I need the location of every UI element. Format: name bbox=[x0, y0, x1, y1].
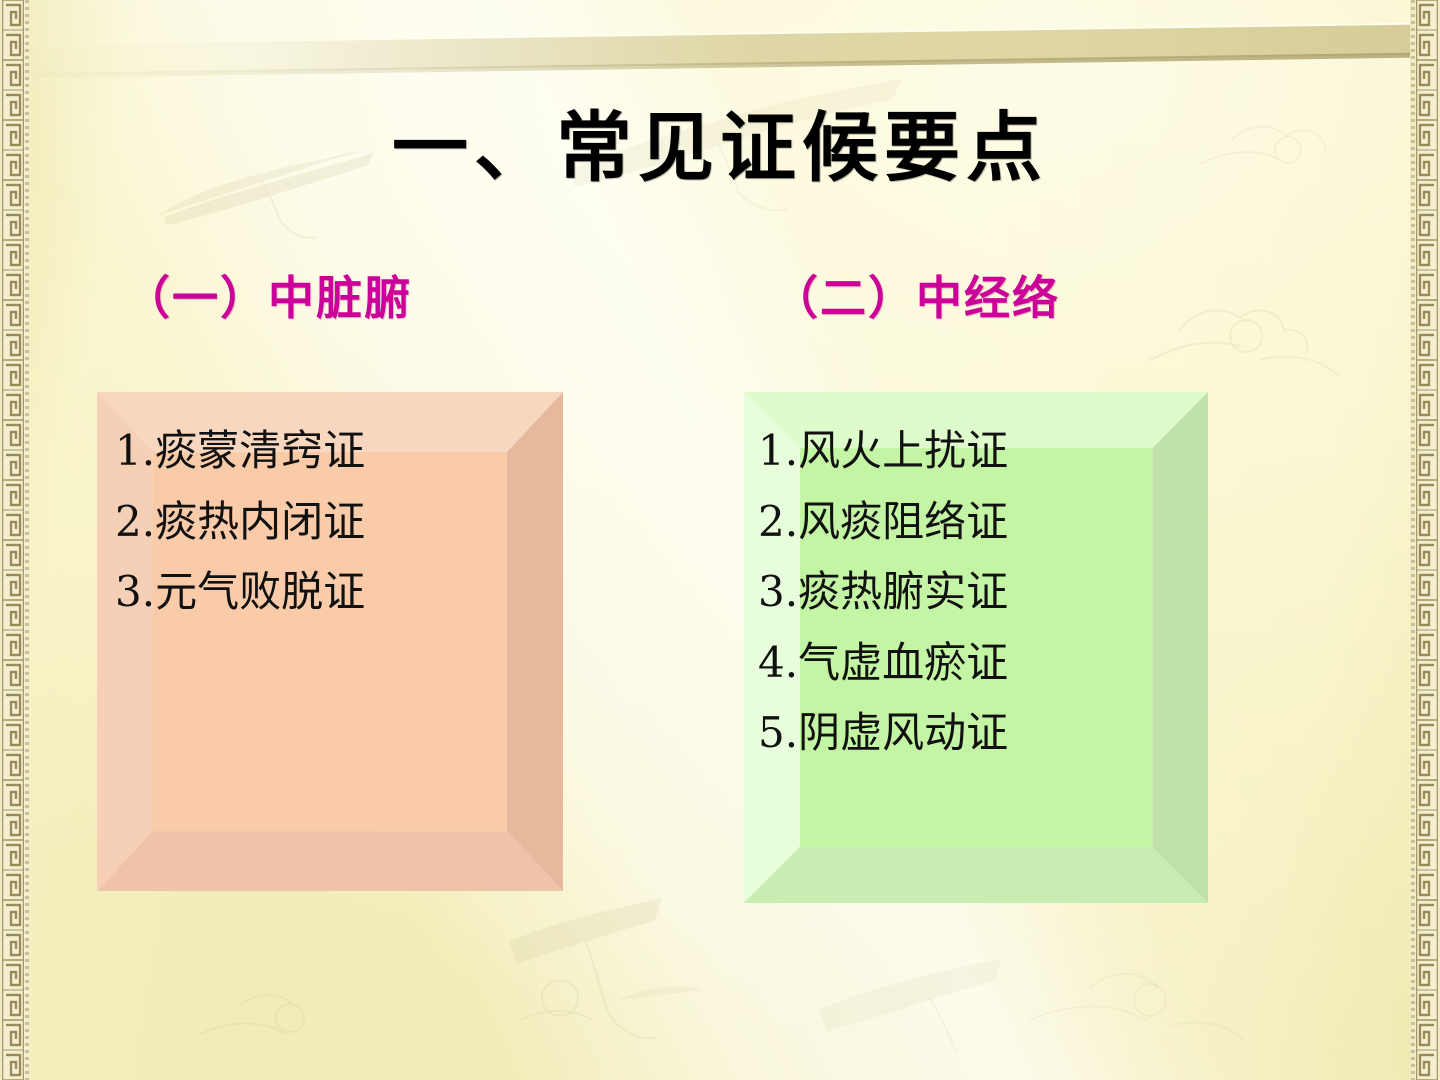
content-box-jingluo: 1.风火上扰证 2.风痰阻络证 3.痰热腑实证 4.气虚血瘀证 5.阴虚风动证 bbox=[744, 392, 1208, 903]
list-item: 3.痰热腑实证 bbox=[758, 557, 1208, 628]
syndrome-list-zangfu: 1.痰蒙清窍证 2.痰热内闭证 3.元气败脱证 bbox=[97, 392, 563, 628]
border-tick-strip bbox=[1411, 0, 1415, 1080]
content-box-zangfu: 1.痰蒙清窍证 2.痰热内闭证 3.元气败脱证 bbox=[97, 392, 563, 891]
border-tick-strip bbox=[25, 0, 29, 1080]
list-item: 4.气虚血瘀证 bbox=[758, 628, 1208, 699]
presentation-slide: 一、常见证候要点 （一）中脏腑 （二）中经络 1.痰蒙清窍证 2.痰热内闭证 3… bbox=[0, 0, 1440, 1080]
list-item: 2.风痰阻络证 bbox=[758, 487, 1208, 558]
list-item: 1.风火上扰证 bbox=[758, 416, 1208, 487]
left-decorative-border bbox=[0, 0, 30, 1080]
list-item: 3.元气败脱证 bbox=[115, 557, 563, 628]
slide-title: 一、常见证候要点 bbox=[0, 108, 1440, 188]
list-item: 1.痰蒙清窍证 bbox=[115, 416, 563, 487]
section-heading-jingluo: （二）中经络 bbox=[772, 262, 1060, 328]
list-item: 5.阴虚风动证 bbox=[758, 698, 1208, 769]
section-heading-zangfu: （一）中脏腑 bbox=[124, 262, 412, 328]
greek-key-pattern-icon bbox=[2, 0, 24, 1080]
list-item: 2.痰热内闭证 bbox=[115, 487, 563, 558]
right-decorative-border bbox=[1410, 0, 1440, 1080]
greek-key-pattern-icon bbox=[1416, 0, 1438, 1080]
syndrome-list-jingluo: 1.风火上扰证 2.风痰阻络证 3.痰热腑实证 4.气虚血瘀证 5.阴虚风动证 bbox=[744, 392, 1208, 769]
